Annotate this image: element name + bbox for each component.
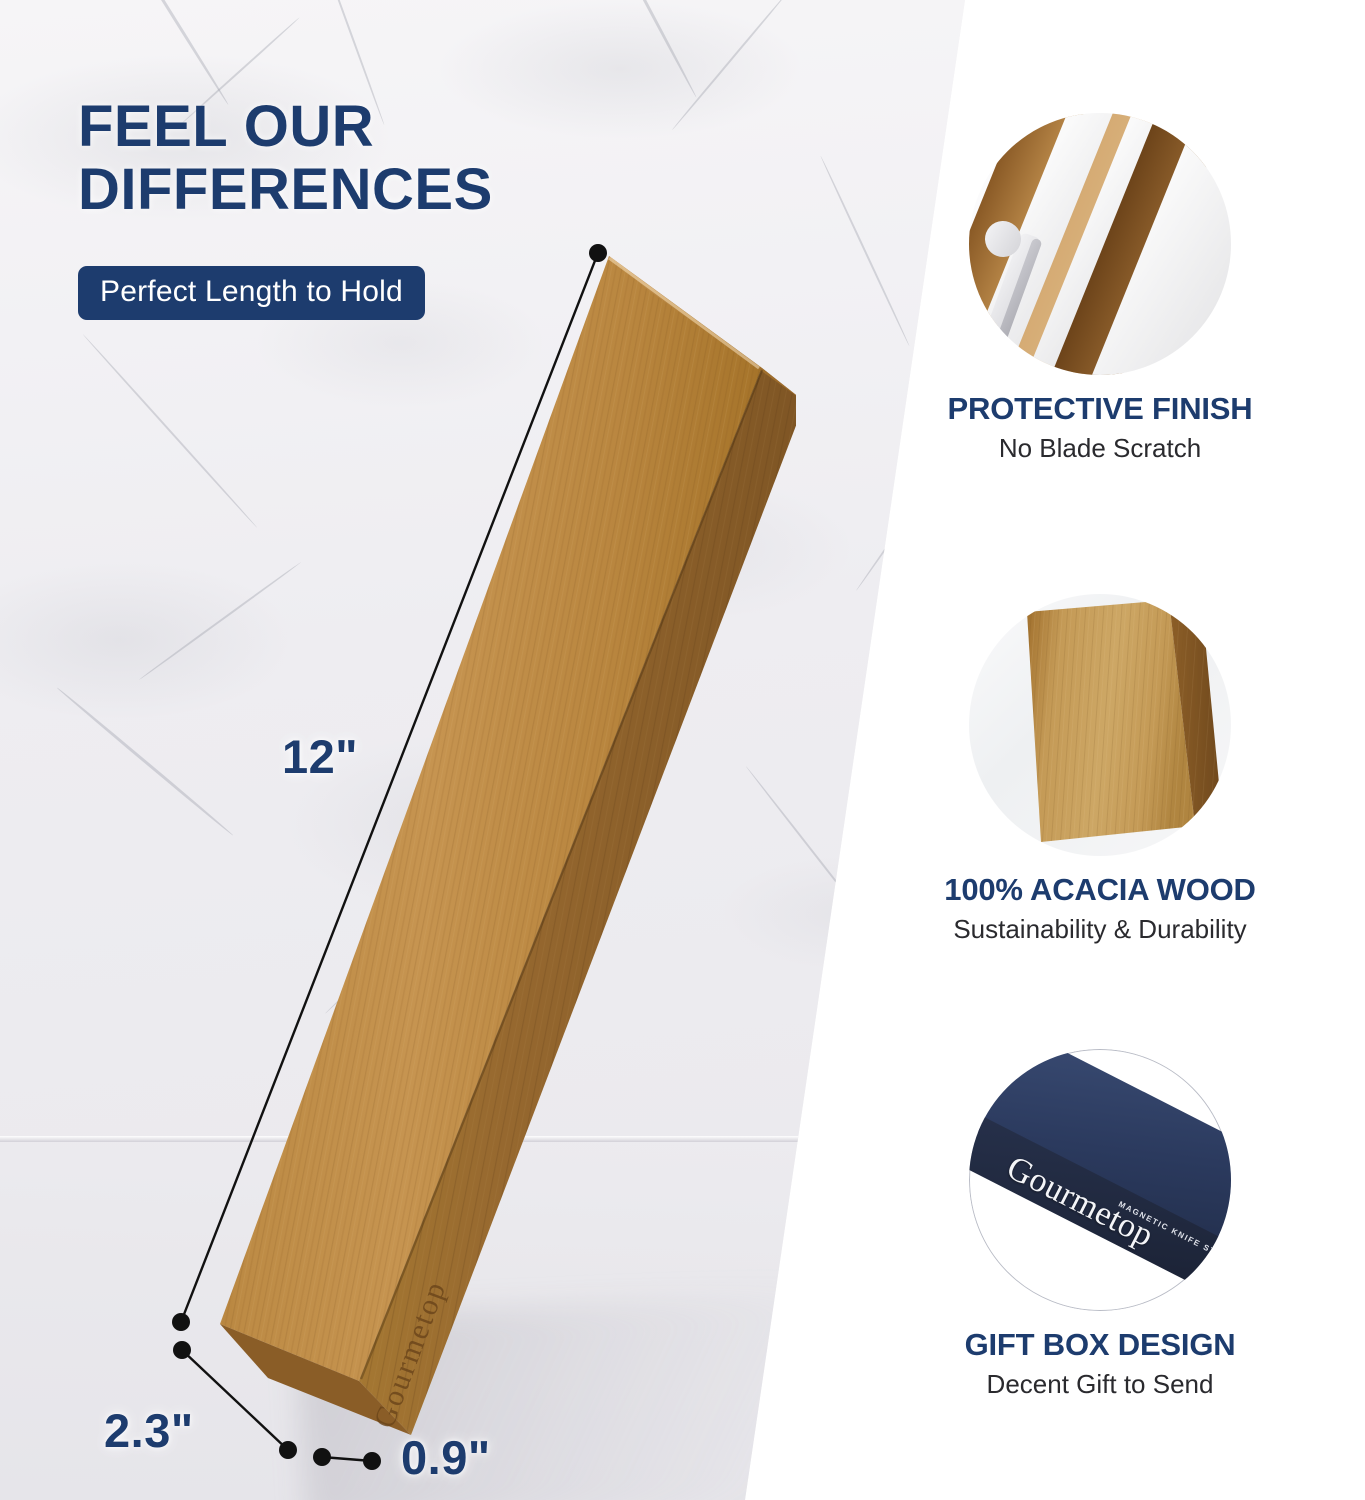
headline-line-1: FEEL OUR — [78, 94, 374, 159]
feature-list: PROTECTIVE FINISH No Blade Scratch — [945, 0, 1365, 1500]
feature-item-protective-finish: PROTECTIVE FINISH No Blade Scratch — [890, 113, 1310, 464]
dimension-label-width: 2.3" — [104, 1403, 194, 1458]
product-photo-panel: Gourmetop — [0, 0, 1000, 1500]
dimension-label-thickness: 0.9" — [401, 1430, 491, 1485]
dimension-label-length: 12" — [282, 729, 358, 784]
headline-line-2: DIFFERENCES — [78, 159, 758, 222]
feature-title: PROTECTIVE FINISH — [890, 391, 1310, 427]
protective-finish-image — [969, 113, 1231, 375]
feature-title: GIFT BOX DESIGN — [890, 1327, 1310, 1363]
feature-subtitle: Sustainability & Durability — [890, 914, 1310, 945]
feature-subtitle: No Blade Scratch — [890, 433, 1310, 464]
tagline-badge: Perfect Length to Hold — [78, 266, 425, 320]
feature-title: 100% ACACIA WOOD — [890, 872, 1310, 908]
gift-box-image: Gourmetop MAGNETIC KNIFE STRIP — [969, 1049, 1231, 1311]
feature-subtitle: Decent Gift to Send — [890, 1369, 1310, 1400]
feature-item-gift-box: Gourmetop MAGNETIC KNIFE STRIP GIFT BOX … — [890, 1049, 1310, 1400]
feature-item-acacia-wood: 100% ACACIA WOOD Sustainability & Durabi… — [890, 594, 1310, 945]
acacia-wood-image — [969, 594, 1231, 856]
page-title: FEEL OUR DIFFERENCES — [78, 96, 758, 221]
dimension-callout-lines — [0, 0, 1000, 1500]
